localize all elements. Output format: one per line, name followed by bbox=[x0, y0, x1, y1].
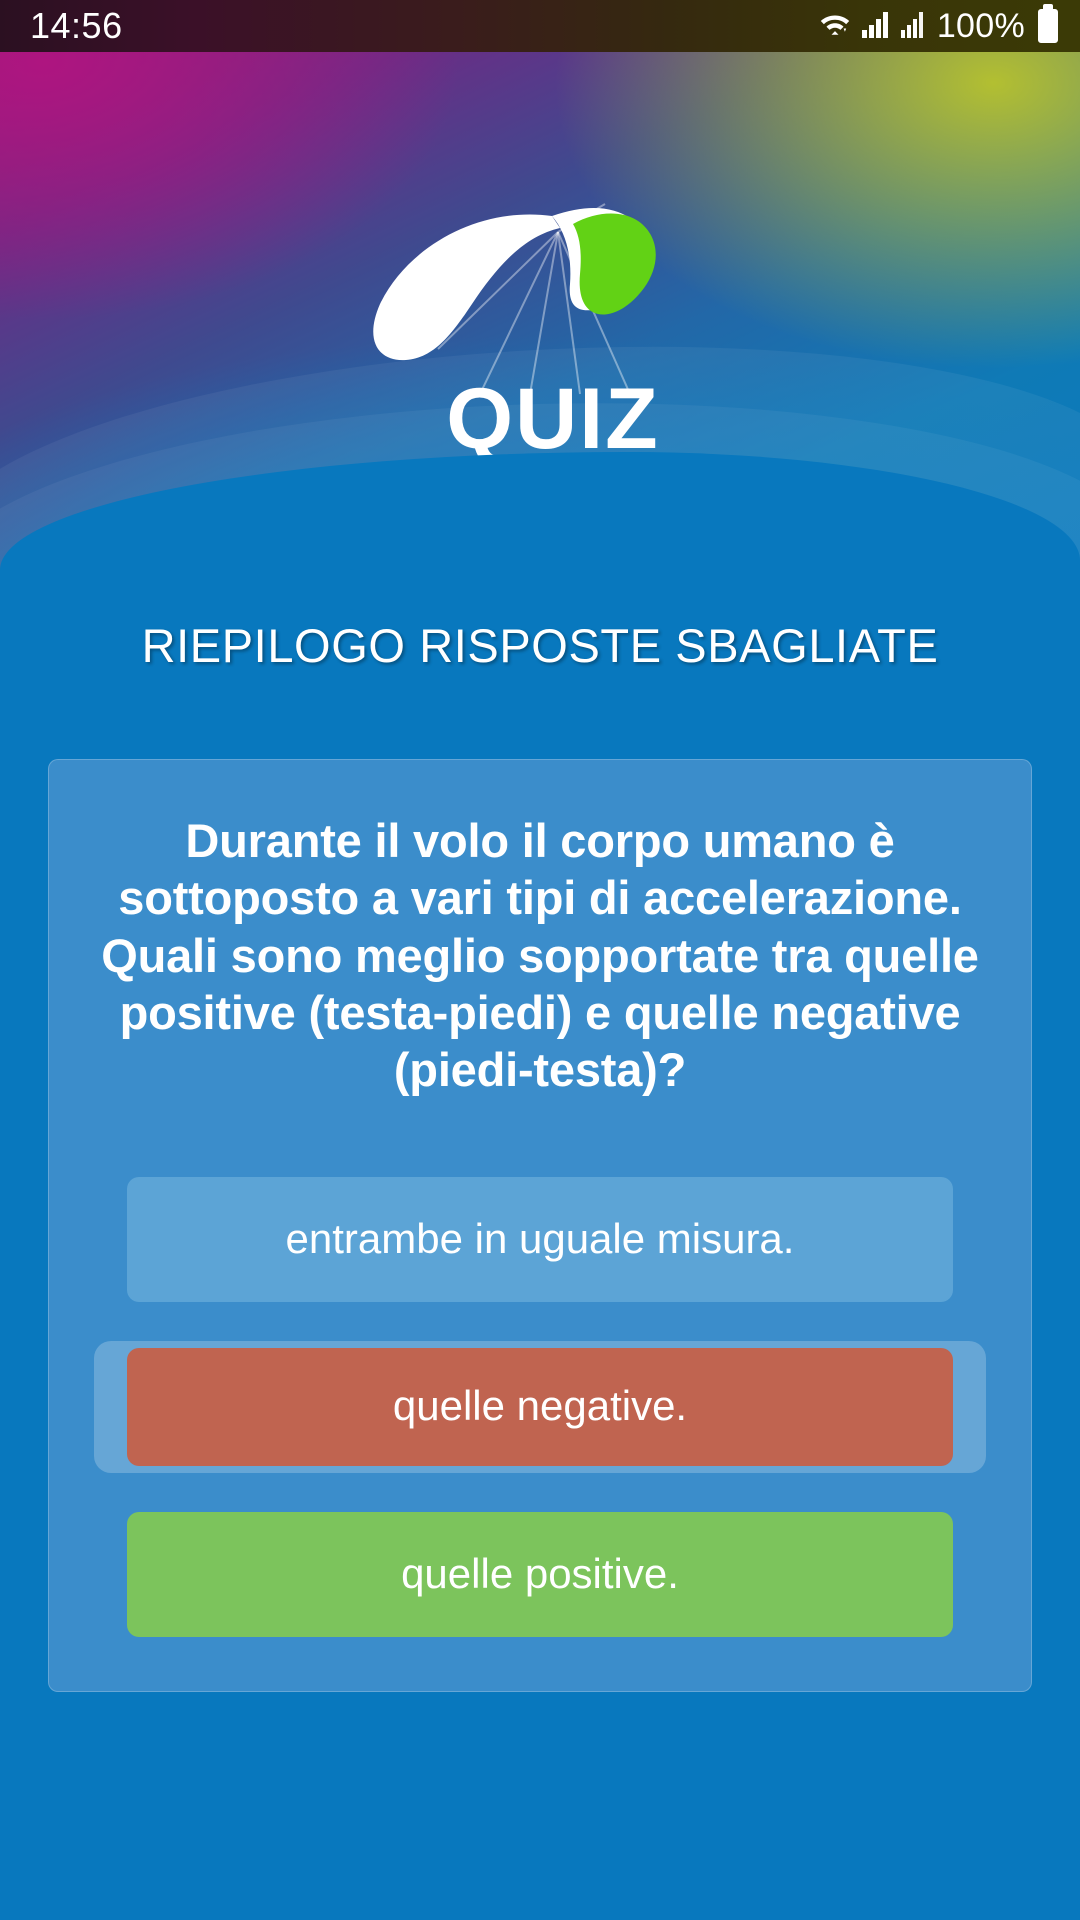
logo-brand-text: QUIZ bbox=[446, 376, 659, 462]
page-title: RIEPILOGO RISPOSTE SBAGLIATE bbox=[0, 618, 1080, 673]
signal-bars-icon-sim2 bbox=[900, 9, 926, 44]
app-header-banner: QUIZ VDS bbox=[0, 52, 1080, 570]
answer-option-container-2-selected: quelle negative. bbox=[94, 1341, 986, 1473]
battery-percent-label: 100% bbox=[937, 7, 1025, 46]
status-bar: 14:56 100% bbox=[0, 0, 1080, 52]
answer-option-wrong-selected[interactable]: quelle negative. bbox=[127, 1348, 953, 1466]
question-card: Durante il volo il corpo umano è sottopo… bbox=[48, 759, 1032, 1692]
answer-option-correct[interactable]: quelle positive. bbox=[127, 1512, 953, 1637]
battery-icon bbox=[1038, 9, 1058, 43]
signal-bars-icon-sim1 bbox=[861, 9, 891, 44]
answer-option-container-3: quelle positive. bbox=[87, 1512, 993, 1637]
answer-option-container-1: entrambe in uguale misura. bbox=[87, 1177, 993, 1302]
answer-option-neutral[interactable]: entrambe in uguale misura. bbox=[127, 1177, 953, 1302]
answer-options-list: entrambe in uguale misura. quelle negati… bbox=[87, 1177, 993, 1637]
question-text: Durante il volo il corpo umano è sottopo… bbox=[87, 812, 993, 1099]
status-bar-indicators: 100% bbox=[818, 7, 1058, 46]
status-bar-clock: 14:56 bbox=[30, 8, 123, 44]
wifi-icon bbox=[818, 9, 852, 44]
app-logo: QUIZ VDS bbox=[0, 144, 1080, 424]
